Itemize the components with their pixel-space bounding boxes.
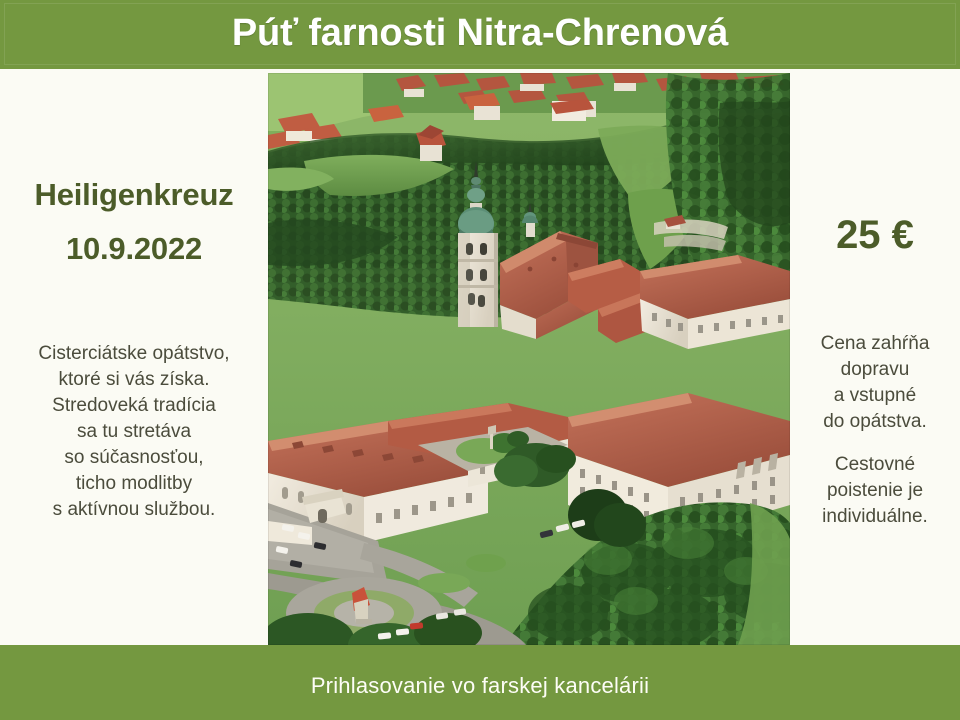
page-title: Púť farnosti Nitra-Chrenová bbox=[0, 0, 960, 69]
description-line: ticho modlitby bbox=[4, 471, 264, 497]
trip-date: 10.9.2022 bbox=[0, 231, 268, 267]
title-banner: Púť farnosti Nitra-Chrenová bbox=[0, 0, 960, 69]
insurance-line: individuálne. bbox=[790, 504, 960, 530]
registration-note: Prihlasovanie vo farskej kancelárii bbox=[0, 645, 960, 720]
abbey-aerial-photo bbox=[268, 73, 790, 645]
included-line: dopravu bbox=[790, 357, 960, 383]
insurance-line: poistenie je bbox=[790, 478, 960, 504]
abbey-photo-illustration bbox=[268, 73, 790, 645]
insurance-line: Cestovné bbox=[790, 452, 960, 478]
description-line: s aktívnou službou. bbox=[4, 497, 264, 523]
description-line: so súčasnosťou, bbox=[4, 445, 264, 471]
included-line: Cena zahŕňa bbox=[790, 331, 960, 357]
description-line: Cisterciátske opátstvo, bbox=[4, 341, 264, 367]
description-line: sa tu stretáva bbox=[4, 419, 264, 445]
destination-name: Heiligenkreuz bbox=[0, 177, 268, 213]
poster: Púť farnosti Nitra-Chrenová Heiligenkreu… bbox=[0, 0, 960, 720]
left-info-column: Heiligenkreuz 10.9.2022 Cisterciátske op… bbox=[0, 73, 268, 645]
description-line: Stredoveká tradícia bbox=[4, 393, 264, 419]
description-line: ktoré si vás získa. bbox=[4, 367, 264, 393]
price-label: 25 € bbox=[790, 213, 960, 258]
included-line: a vstupné bbox=[790, 383, 960, 409]
destination-description: Cisterciátske opátstvo, ktoré si vás zís… bbox=[4, 341, 264, 523]
footer-banner: Prihlasovanie vo farskej kancelárii bbox=[0, 645, 960, 720]
included-line: do opátstva. bbox=[790, 409, 960, 435]
price-details: Cena zahŕňa dopravu a vstupné do opátstv… bbox=[790, 331, 960, 530]
right-info-column: 25 € Cena zahŕňa dopravu a vstupné do op… bbox=[790, 73, 960, 645]
